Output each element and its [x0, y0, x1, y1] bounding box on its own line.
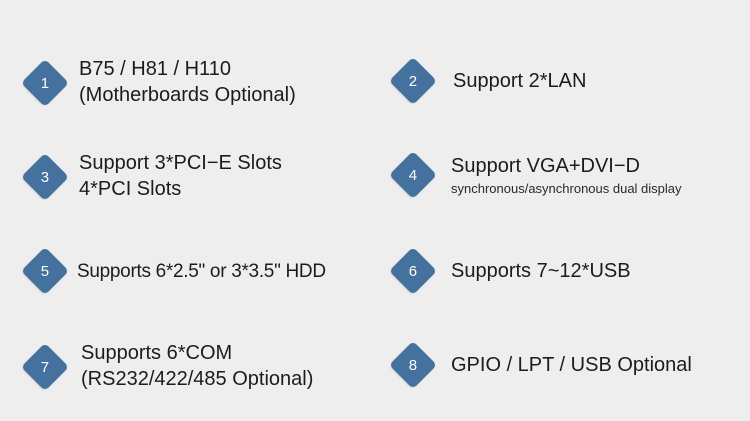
feature-line-8-0: GPIO / LPT / USB Optional	[451, 352, 692, 379]
badge-wrap-6: 6	[388, 246, 438, 296]
feature-line-5-0: Supports 6*2.5" or 3*3.5" HDD	[77, 258, 326, 285]
feature-item-4: 4 Support VGA+DVI−D synchronous/asynchro…	[388, 150, 682, 200]
feature-subtitle-4: synchronous/asynchronous dual display	[451, 180, 682, 198]
feature-text-5: Supports 6*2.5" or 3*3.5" HDD	[77, 258, 326, 285]
diamond-badge-icon: 3	[21, 152, 69, 200]
feature-line-6-0: Supports 7~12*USB	[451, 258, 631, 285]
feature-text-3: Support 3*PCI−E Slots 4*PCI Slots	[79, 150, 282, 203]
badge-number-7: 7	[28, 350, 62, 384]
feature-item-7: 7 Supports 6*COM (RS232/422/485 Optional…	[20, 340, 313, 393]
feature-text-6: Supports 7~12*USB	[451, 258, 631, 285]
badge-number-6: 6	[396, 254, 430, 288]
badge-wrap-1: 1	[20, 58, 70, 108]
feature-item-2: 2 Support 2*LAN	[388, 56, 586, 106]
feature-item-8: 8 GPIO / LPT / USB Optional	[388, 340, 692, 390]
badge-wrap-7: 7	[20, 342, 70, 392]
badge-number-4: 4	[396, 158, 430, 192]
diamond-badge-icon: 5	[21, 247, 69, 295]
diamond-badge-icon: 1	[21, 58, 69, 106]
feature-item-5: 5 Supports 6*2.5" or 3*3.5" HDD	[20, 246, 326, 296]
feature-item-3: 3 Support 3*PCI−E Slots 4*PCI Slots	[20, 150, 282, 203]
badge-wrap-8: 8	[388, 340, 438, 390]
feature-text-7: Supports 6*COM (RS232/422/485 Optional)	[81, 340, 313, 393]
badge-number-8: 8	[396, 348, 430, 382]
badge-wrap-3: 3	[20, 152, 70, 202]
badge-wrap-2: 2	[388, 56, 438, 106]
feature-line-3-1: 4*PCI Slots	[79, 176, 282, 203]
feature-text-8: GPIO / LPT / USB Optional	[451, 352, 692, 379]
diamond-badge-icon: 6	[389, 247, 437, 295]
feature-text-2: Support 2*LAN	[453, 68, 586, 95]
badge-number-1: 1	[28, 66, 62, 100]
badge-wrap-5: 5	[20, 246, 70, 296]
feature-list-board: 1 B75 / H81 / H110 (Motherboards Optiona…	[0, 0, 750, 421]
feature-text-4: Support VGA+DVI−D synchronous/asynchrono…	[451, 153, 682, 198]
feature-line-1-1: (Motherboards Optional)	[79, 82, 296, 109]
feature-line-4-0: Support VGA+DVI−D	[451, 153, 682, 180]
diamond-badge-icon: 7	[21, 342, 69, 390]
feature-line-1-0: B75 / H81 / H110	[79, 56, 296, 83]
badge-number-2: 2	[396, 64, 430, 98]
badge-wrap-4: 4	[388, 150, 438, 200]
feature-item-6: 6 Supports 7~12*USB	[388, 246, 631, 296]
diamond-badge-icon: 2	[389, 57, 437, 105]
feature-text-1: B75 / H81 / H110 (Motherboards Optional)	[79, 56, 296, 109]
diamond-badge-icon: 4	[389, 151, 437, 199]
badge-number-5: 5	[28, 254, 62, 288]
badge-number-3: 3	[28, 160, 62, 194]
feature-item-1: 1 B75 / H81 / H110 (Motherboards Optiona…	[20, 56, 296, 109]
feature-line-3-0: Support 3*PCI−E Slots	[79, 150, 282, 177]
feature-line-7-0: Supports 6*COM	[81, 340, 313, 367]
feature-line-7-1: (RS232/422/485 Optional)	[81, 366, 313, 393]
diamond-badge-icon: 8	[389, 341, 437, 389]
feature-line-2-0: Support 2*LAN	[453, 68, 586, 95]
